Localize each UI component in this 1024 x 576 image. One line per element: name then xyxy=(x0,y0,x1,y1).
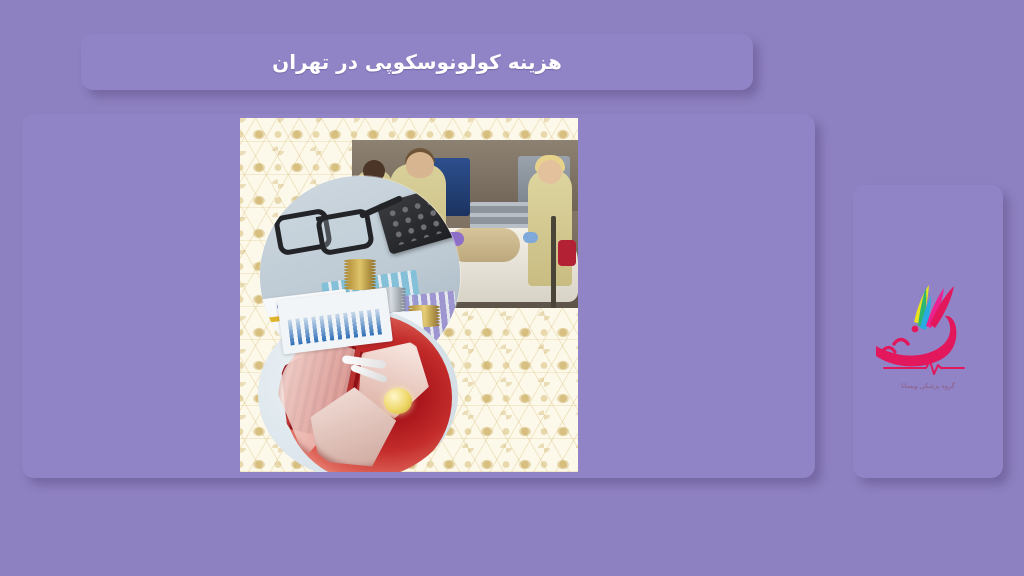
report-chart-bars xyxy=(287,308,383,345)
collage-image xyxy=(240,118,578,472)
staff-head-right xyxy=(538,160,562,184)
polyp-highlight xyxy=(384,388,412,414)
logo-script-arc-2 xyxy=(882,347,895,352)
red-biohazard-bag xyxy=(558,240,576,266)
logo-dot xyxy=(912,325,919,332)
page-title: هزینه کولونوسکوپی در تهران xyxy=(272,50,562,74)
logo-panel: گروه پزشکی ویسانا xyxy=(853,185,1003,478)
gold-coin-stack xyxy=(344,260,376,290)
logo-script-arc xyxy=(894,339,908,344)
blue-glove xyxy=(523,232,538,243)
staff-member-right xyxy=(528,170,572,286)
logo-tagline: گروه پزشکی ویسانا xyxy=(868,382,988,390)
staff-head-foreground xyxy=(406,152,434,178)
visana-logo-icon xyxy=(868,272,988,392)
title-bar: هزینه کولونوسکوپی در تهران xyxy=(81,34,753,90)
logo-script-swash xyxy=(876,315,956,366)
brand-logo: گروه پزشکی ویسانا xyxy=(868,272,988,392)
iv-pole xyxy=(551,216,556,308)
